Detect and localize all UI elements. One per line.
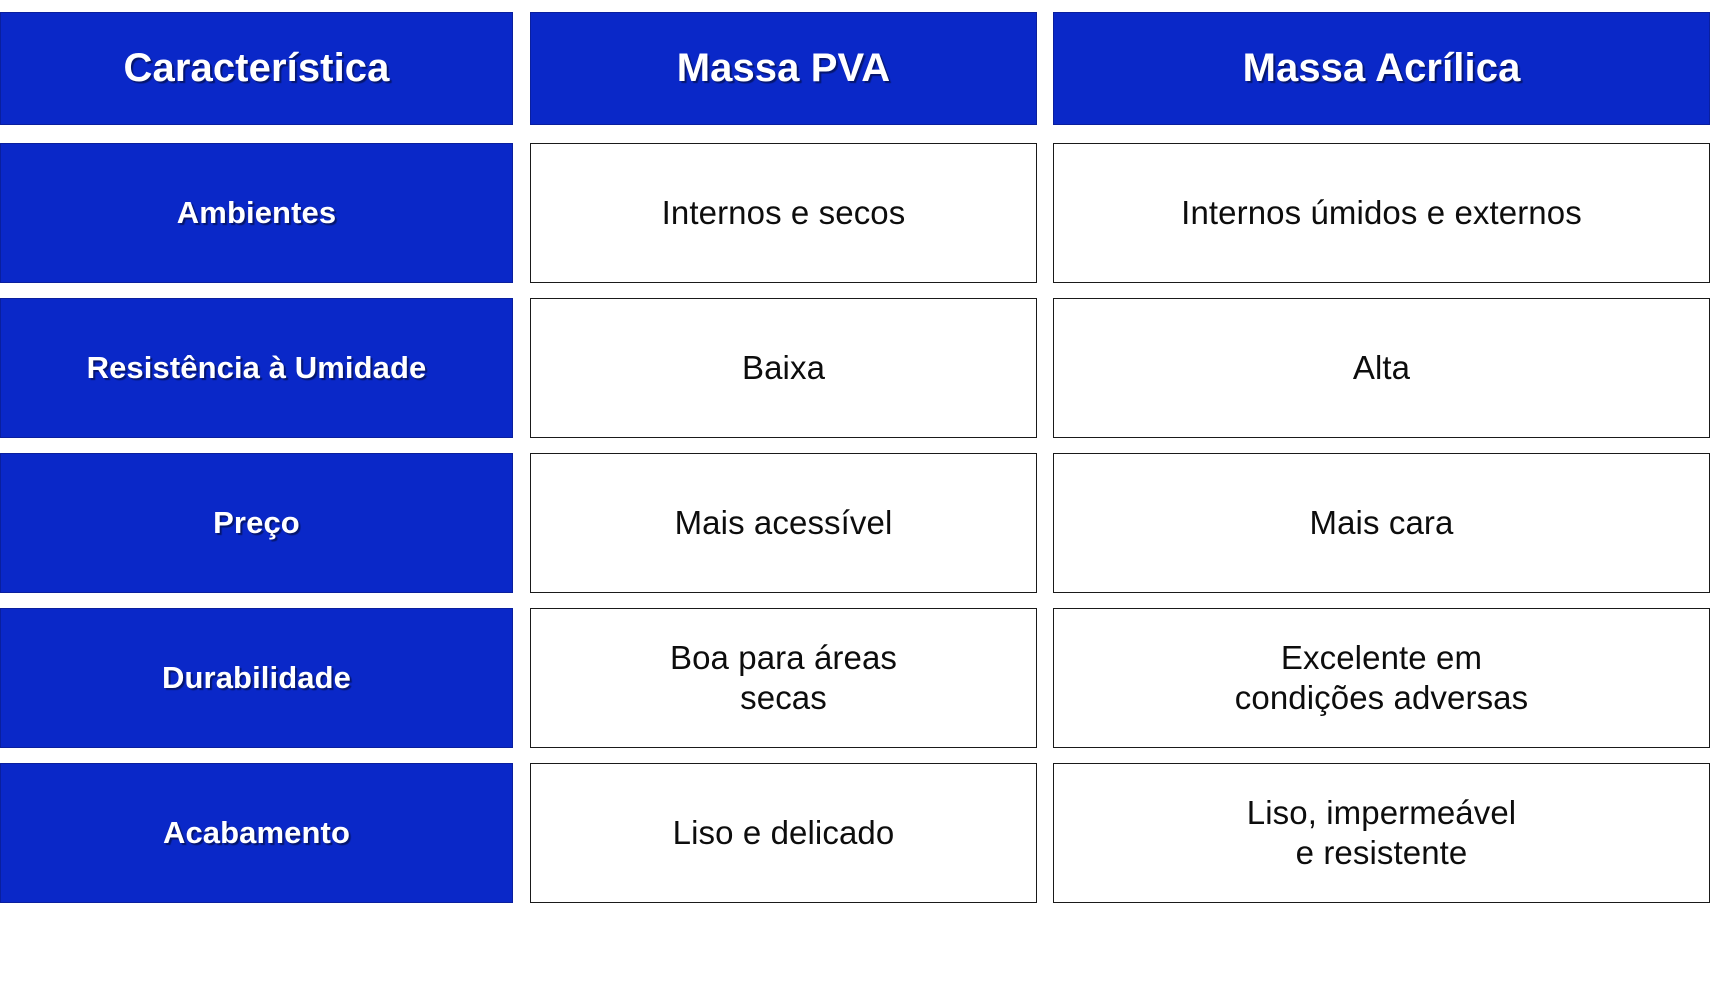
table-cell-durabilidade-pva: Boa para áreas secas bbox=[530, 608, 1037, 748]
cell-line-1: Baixa bbox=[541, 348, 1026, 388]
row-label-ambientes-text: Ambientes bbox=[11, 194, 502, 232]
table-cell-ambientes-pva: Internos e secos bbox=[530, 143, 1037, 283]
row-label-durabilidade-text: Durabilidade bbox=[11, 659, 502, 697]
table-cell-acabamento-pva: Liso e delicado bbox=[530, 763, 1037, 903]
row-label-acabamento: Acabamento bbox=[0, 763, 513, 903]
row-label-durabilidade: Durabilidade bbox=[0, 608, 513, 748]
row-label-ambientes: Ambientes bbox=[0, 143, 513, 283]
row-label-resistencia-umidade: Resistência à Umidade bbox=[0, 298, 513, 438]
table-cell-resistencia-acrilica: Alta bbox=[1053, 298, 1710, 438]
table-cell-acabamento-pva-text: Liso e delicado bbox=[541, 813, 1026, 853]
row-label-preco-text: Preço bbox=[11, 504, 502, 542]
table-cell-ambientes-pva-text: Internos e secos bbox=[541, 193, 1026, 233]
column-header-massa-pva-label: Massa PVA bbox=[541, 44, 1026, 93]
row-label-resistencia-umidade-text: Resistência à Umidade bbox=[11, 349, 502, 387]
cell-line-1: Liso e delicado bbox=[541, 813, 1026, 853]
column-header-caracteristica: Característica bbox=[0, 12, 513, 125]
table-cell-resistencia-pva-text: Baixa bbox=[541, 348, 1026, 388]
cell-line-2: e resistente bbox=[1064, 833, 1699, 873]
table-cell-preco-acrilica: Mais cara bbox=[1053, 453, 1710, 593]
cell-line-1: Internos úmidos e externos bbox=[1064, 193, 1699, 233]
table-cell-ambientes-acrilica: Internos úmidos e externos bbox=[1053, 143, 1710, 283]
cell-line-1: Excelente em bbox=[1064, 638, 1699, 678]
table-cell-preco-pva-text: Mais acessível bbox=[541, 503, 1026, 543]
row-label-acabamento-text: Acabamento bbox=[11, 814, 502, 852]
cell-line-2: secas bbox=[541, 678, 1026, 718]
table-cell-ambientes-acrilica-text: Internos úmidos e externos bbox=[1064, 193, 1699, 233]
cell-line-1: Internos e secos bbox=[541, 193, 1026, 233]
table-cell-resistencia-acrilica-text: Alta bbox=[1064, 348, 1699, 388]
column-header-massa-acrilica: Massa Acrílica bbox=[1053, 12, 1710, 125]
column-header-massa-pva: Massa PVA bbox=[530, 12, 1037, 125]
row-label-preco: Preço bbox=[0, 453, 513, 593]
cell-line-1: Mais acessível bbox=[541, 503, 1026, 543]
table-cell-acabamento-acrilica-text: Liso, impermeável e resistente bbox=[1064, 793, 1699, 874]
cell-line-1: Alta bbox=[1064, 348, 1699, 388]
table-cell-durabilidade-acrilica: Excelente em condições adversas bbox=[1053, 608, 1710, 748]
table-cell-preco-acrilica-text: Mais cara bbox=[1064, 503, 1699, 543]
comparison-table: Característica Massa PVA Massa Acrílica … bbox=[0, 0, 1710, 999]
column-header-caracteristica-label: Característica bbox=[11, 44, 502, 93]
table-cell-preco-pva: Mais acessível bbox=[530, 453, 1037, 593]
table-cell-resistencia-pva: Baixa bbox=[530, 298, 1037, 438]
table-cell-durabilidade-acrilica-text: Excelente em condições adversas bbox=[1064, 638, 1699, 719]
cell-line-1: Liso, impermeável bbox=[1064, 793, 1699, 833]
column-header-massa-acrilica-label: Massa Acrílica bbox=[1064, 44, 1699, 93]
table-cell-acabamento-acrilica: Liso, impermeável e resistente bbox=[1053, 763, 1710, 903]
table-cell-durabilidade-pva-text: Boa para áreas secas bbox=[541, 638, 1026, 719]
cell-line-1: Boa para áreas bbox=[541, 638, 1026, 678]
cell-line-2: condições adversas bbox=[1064, 678, 1699, 718]
cell-line-1: Mais cara bbox=[1064, 503, 1699, 543]
